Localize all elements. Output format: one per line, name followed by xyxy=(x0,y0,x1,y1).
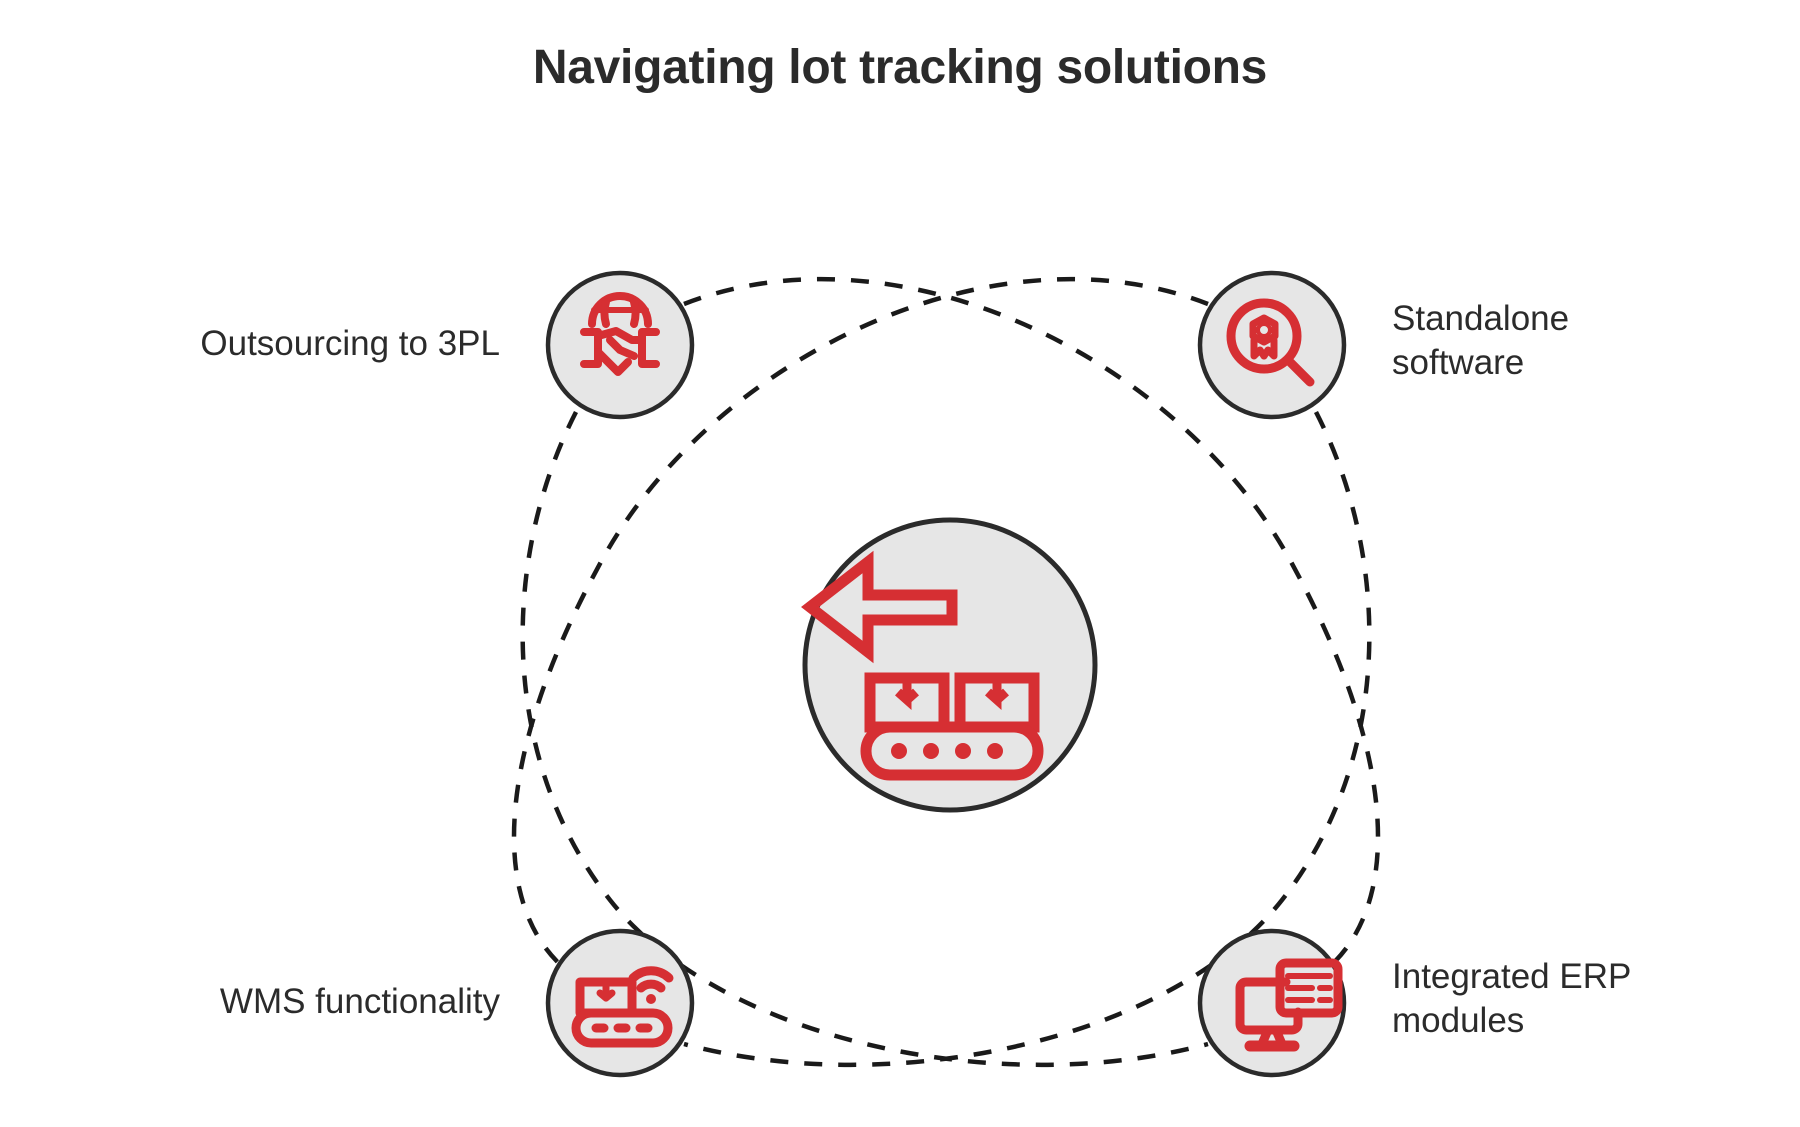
node-wms-functionality[interactable] xyxy=(548,931,692,1075)
node-label-wms-functionality: WMS functionality xyxy=(40,980,500,1024)
center-node[interactable] xyxy=(790,520,1095,810)
diagram-canvas: Navigating lot tracking solutions xyxy=(0,0,1800,1127)
node-label-integrated-erp-modules: Integrated ERP modules xyxy=(1392,955,1792,1043)
node-label-outsourcing-3pl: Outsourcing to 3PL xyxy=(40,322,500,366)
node-wms-functionality-circle[interactable] xyxy=(548,931,692,1075)
node-integrated-erp-modules[interactable] xyxy=(1200,931,1344,1075)
center-node-circle[interactable] xyxy=(805,520,1095,810)
node-label-standalone-software: Standalone software xyxy=(1392,297,1792,385)
node-outsourcing-3pl[interactable] xyxy=(548,273,692,417)
node-standalone-software[interactable] xyxy=(1200,273,1344,417)
